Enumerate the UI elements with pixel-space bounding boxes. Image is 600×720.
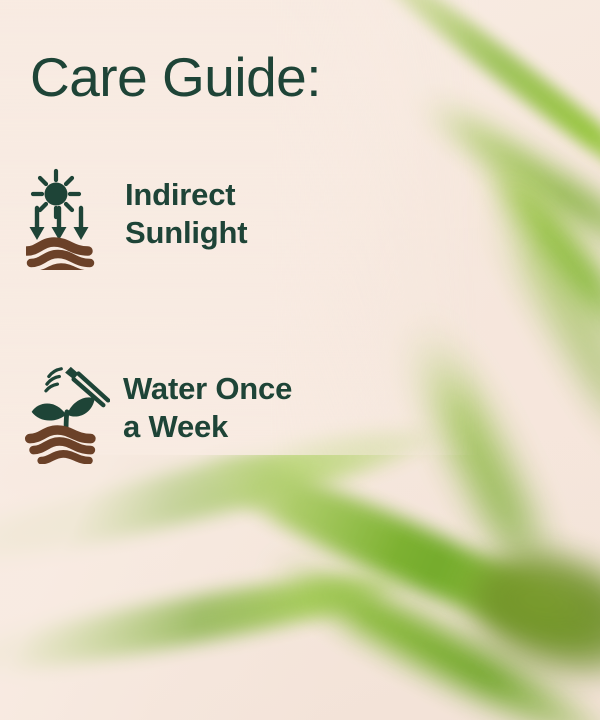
- care-item-water: Water Once a Week: [24, 352, 292, 464]
- sun-arrows-soil-icon: [26, 158, 112, 270]
- care-label-line-2: a Week: [123, 408, 292, 446]
- care-item-water-label: Water Once a Week: [123, 370, 292, 446]
- care-label-line-2: Sunlight: [125, 214, 247, 252]
- care-guide-content: Care Guide:: [0, 0, 600, 720]
- care-guide-card: Care Guide:: [0, 0, 600, 720]
- page-title: Care Guide:: [30, 50, 321, 105]
- care-item-sunlight-label: Indirect Sunlight: [125, 176, 247, 252]
- watering-can-seedling-soil-icon: [24, 352, 110, 464]
- care-item-sunlight: Indirect Sunlight: [26, 158, 247, 270]
- care-label-line-1: Water Once: [123, 371, 292, 406]
- care-label-line-1: Indirect: [125, 177, 235, 212]
